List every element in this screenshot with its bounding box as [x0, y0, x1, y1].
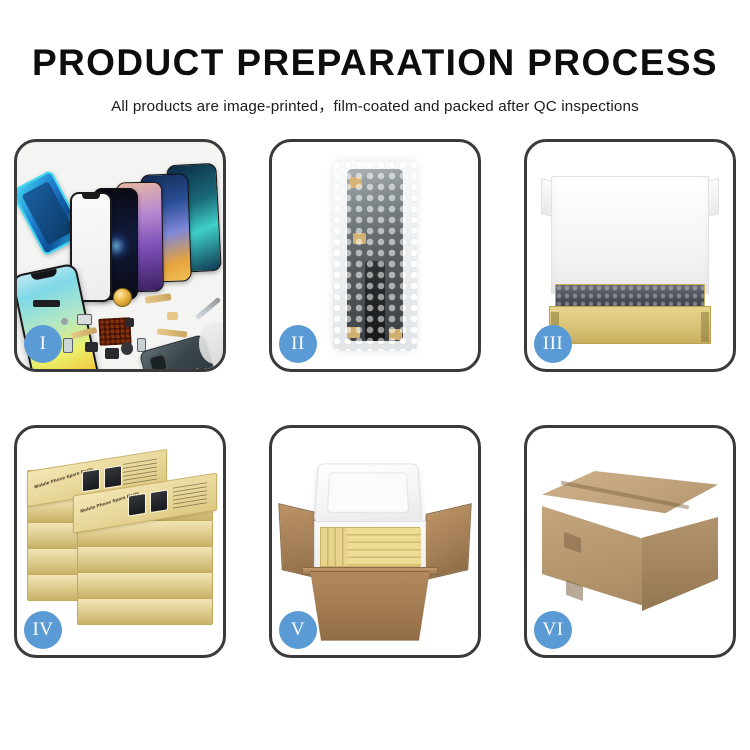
bubble-padding-fill [555, 284, 705, 308]
small-part-9 [167, 312, 178, 320]
tweezers-tool [195, 297, 221, 320]
process-step-3: III [524, 139, 736, 372]
flex-cable-2 [157, 328, 187, 337]
speaker-coil-part [113, 288, 132, 307]
wrapped-flex-strip [365, 261, 385, 341]
process-step-grid: I II [14, 139, 736, 658]
small-part-4 [105, 348, 119, 359]
lid-window-1 [82, 469, 100, 493]
sealed-shipping-carton [542, 471, 718, 621]
technician-hand [199, 322, 223, 364]
small-part-8 [125, 318, 134, 327]
lid-window-2 [104, 465, 122, 489]
white-foam-lid [551, 176, 709, 294]
foam-cooler-lid [314, 463, 423, 523]
carton-front-face [542, 506, 644, 606]
small-part-10 [61, 318, 68, 325]
flex-cable-1 [145, 293, 172, 304]
step-badge-3: III [534, 325, 572, 363]
kraft-box-base [549, 306, 711, 344]
step-badge-5: V [279, 611, 317, 649]
tape-piece-3 [347, 327, 360, 338]
packed-retail-boxes [320, 527, 420, 567]
tape-piece-4 [389, 329, 402, 340]
step-badge-6: VI [534, 611, 572, 649]
lid-spec-lines [173, 482, 207, 509]
tape-piece-1 [349, 177, 362, 188]
retail-box-stack: Mobile Phone Spare Parts Mobile Phone Sp [27, 460, 213, 632]
box-side [78, 599, 212, 624]
box-corner-right [701, 312, 709, 342]
process-step-6: VI [524, 425, 736, 658]
page-subtitle: All products are image-printed，film-coat… [0, 94, 750, 116]
stacked-box [77, 598, 213, 625]
bubble-wrap-package [333, 161, 417, 351]
lid-window-1 [128, 493, 146, 517]
stacked-box [77, 572, 213, 599]
step-badge-1: I [24, 325, 62, 363]
box-side [78, 573, 212, 598]
product-preparation-infographic: PRODUCT PREPARATION PROCESS All products… [0, 0, 750, 750]
connector-bar-part [33, 300, 60, 307]
header: PRODUCT PREPARATION PROCESS All products… [0, 0, 750, 116]
process-step-4: Mobile Phone Spare Parts Mobile Phone Sp [14, 425, 226, 658]
small-part-5 [121, 342, 133, 355]
process-step-2: II [269, 139, 481, 372]
small-part-1 [77, 314, 92, 325]
box-side [78, 547, 212, 572]
tape-piece-2 [353, 233, 366, 244]
small-part-2 [63, 338, 73, 353]
carton-body [302, 571, 438, 641]
step-badge-4: IV [24, 611, 62, 649]
page-title: PRODUCT PREPARATION PROCESS [0, 44, 750, 83]
step-badge-2: II [279, 325, 317, 363]
process-step-1: I [14, 139, 226, 372]
stacked-box [77, 546, 213, 573]
small-part-3 [85, 342, 98, 352]
open-inner-box [541, 176, 719, 344]
carton-right-face [642, 517, 718, 611]
process-step-5: V [269, 425, 481, 658]
lid-window-2 [150, 489, 168, 513]
